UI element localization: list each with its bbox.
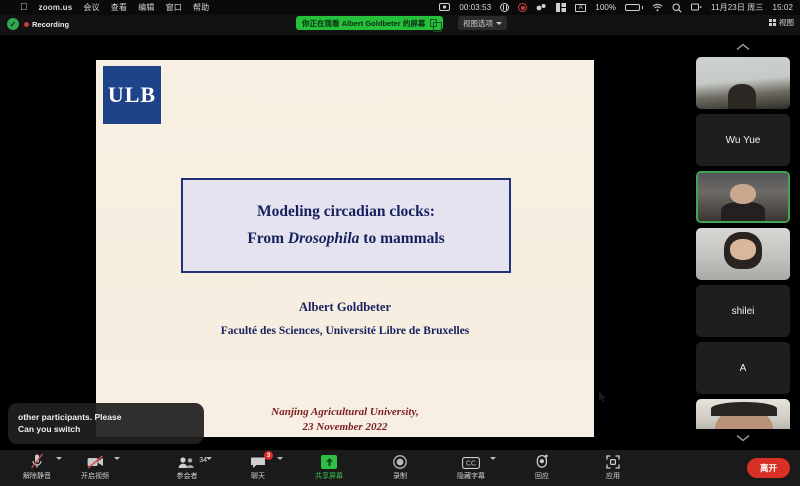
- view-layout-button[interactable]: 视图: [769, 17, 794, 28]
- leave-meeting-button[interactable]: 离开: [747, 458, 790, 478]
- menu-item-view[interactable]: 查看: [111, 2, 127, 13]
- participant-tile-active-speaker[interactable]: [696, 171, 790, 223]
- video-off-icon: [87, 453, 104, 469]
- macos-menu-bar:  zoom.us 会议 查看 编辑 窗口 帮助 00:03:53 A 100%: [0, 0, 800, 15]
- apple-logo-icon[interactable]: : [20, 3, 28, 13]
- unmute-button[interactable]: 解除静音: [16, 453, 58, 481]
- share-screen-label: 共享屏幕: [315, 471, 343, 481]
- battery-percent: 100%: [595, 3, 616, 12]
- recording-dot-icon: [24, 22, 29, 27]
- participant-tile[interactable]: Wu Yue: [696, 114, 790, 166]
- ulb-logo-text: ULB: [108, 82, 156, 108]
- shared-screen-stage[interactable]: ULB Modeling circadian clocks: From Dros…: [0, 35, 686, 450]
- title-line2-suffix: to mammals: [359, 230, 444, 247]
- record-button[interactable]: 录制: [379, 453, 421, 481]
- menu-bar-status-items: 00:03:53 A 100% 11月23日 周三 15:02: [439, 2, 800, 13]
- zoom-top-bar: ✓ Recording 你正在观看 Albert Goldbeter 的屏幕 视…: [0, 15, 800, 35]
- menu-item-window[interactable]: 窗口: [166, 2, 182, 13]
- participant-tile[interactable]: A: [696, 342, 790, 394]
- chevron-up-icon[interactable]: [206, 457, 212, 460]
- participant-name: Wu Yue: [726, 135, 761, 146]
- mouse-cursor-icon: [599, 391, 607, 403]
- scroll-down-button[interactable]: [686, 428, 800, 448]
- view-options-dropdown[interactable]: 视图选项: [458, 16, 507, 30]
- recording-label: Recording: [32, 20, 69, 29]
- apps-label: 应用: [606, 471, 620, 481]
- chevron-up-icon[interactable]: [56, 457, 62, 460]
- unmute-label: 解除静音: [23, 471, 51, 481]
- participant-tiles[interactable]: Wu Yue shilei A: [691, 57, 795, 429]
- chevron-up-icon[interactable]: [114, 457, 120, 460]
- live-caption-overlay: other participants. Please Can you switc…: [8, 403, 204, 445]
- closed-caption-label: 隐藏字幕: [457, 471, 485, 481]
- bluetooth-icon[interactable]: [536, 3, 547, 12]
- system-clock[interactable]: 15:02: [772, 3, 793, 12]
- closed-caption-icon: CC: [462, 453, 480, 469]
- view-options-label: 视图选项: [463, 18, 493, 29]
- title-line2-prefix: From: [247, 230, 288, 247]
- slide-title-box: Modeling circadian clocks: From Drosophi…: [181, 178, 511, 273]
- sharing-notice-text: 你正在观看 Albert Goldbeter 的屏幕: [302, 18, 425, 29]
- mic-muted-icon: [30, 453, 44, 469]
- recording-indicator-group: ✓ Recording: [7, 18, 69, 30]
- participant-strip: Wu Yue shilei A: [686, 35, 800, 450]
- closed-caption-button[interactable]: CC 隐藏字幕: [450, 453, 492, 481]
- chevron-up-icon[interactable]: [490, 457, 496, 460]
- participant-name: A: [740, 363, 747, 374]
- screen-sharing-notice: 你正在观看 Albert Goldbeter 的屏幕: [296, 16, 443, 30]
- slide-title-line2: From Drosophila to mammals: [247, 230, 444, 248]
- participant-video: [696, 399, 790, 429]
- pause-recording-icon[interactable]: [500, 3, 509, 12]
- participant-tile[interactable]: [696, 399, 790, 429]
- start-video-button[interactable]: 开启视频: [74, 453, 116, 481]
- menu-item-edit[interactable]: 编辑: [138, 2, 154, 13]
- copy-icon[interactable]: [430, 19, 437, 27]
- chevron-up-icon: [736, 43, 750, 51]
- battery-icon[interactable]: [625, 4, 643, 11]
- menu-bar-left:  zoom.us 会议 查看 编辑 窗口 帮助: [0, 2, 209, 13]
- reactions-button[interactable]: 回应: [521, 453, 563, 481]
- toolbar-right-group: 离开: [747, 458, 790, 478]
- chat-label: 聊天: [251, 471, 265, 481]
- participant-tile[interactable]: [696, 57, 790, 109]
- screen-share-status-icon[interactable]: [439, 3, 450, 12]
- caption-line-1: other participants. Please: [18, 411, 194, 424]
- menu-item-help[interactable]: 帮助: [193, 2, 209, 13]
- stop-recording-icon[interactable]: [518, 3, 527, 12]
- grid-view-icon: [769, 19, 776, 26]
- spotlight-search-icon[interactable]: [672, 3, 682, 13]
- apps-icon: [606, 453, 620, 469]
- chevron-up-icon[interactable]: [277, 457, 283, 460]
- meeting-timer: 00:03:53: [459, 3, 491, 12]
- slide-title-line1: Modeling circadian clocks:: [257, 203, 435, 221]
- wifi-icon[interactable]: [652, 3, 663, 12]
- slide-affiliation: Faculté des Sciences, Université Libre d…: [96, 325, 594, 337]
- record-icon: [393, 453, 407, 469]
- share-screen-icon: [321, 453, 337, 469]
- reactions-label: 回应: [535, 471, 549, 481]
- participant-video: [696, 228, 790, 280]
- participant-video: [698, 173, 788, 221]
- participant-name: shilei: [732, 306, 755, 317]
- participant-video: [696, 57, 790, 109]
- participants-button[interactable]: 34 参会者: [166, 453, 208, 481]
- menu-item-meeting[interactable]: 会议: [83, 2, 99, 13]
- participant-tile[interactable]: shilei: [696, 285, 790, 337]
- toolbar-center-group: 34 参会者 3 聊天 共享屏幕: [166, 453, 634, 481]
- chevron-down-icon: [496, 22, 502, 25]
- participants-label: 参会者: [177, 471, 198, 481]
- view-button-label: 视图: [779, 17, 794, 28]
- share-screen-button[interactable]: 共享屏幕: [308, 453, 350, 481]
- window-layout-icon[interactable]: [556, 3, 566, 12]
- ulb-logo: ULB: [103, 66, 161, 124]
- system-date[interactable]: 11月23日 周三: [711, 2, 763, 13]
- participants-icon: [178, 453, 196, 469]
- input-source-icon[interactable]: A: [575, 4, 586, 12]
- toolbar-left-group: 解除静音 开启视频: [16, 453, 116, 481]
- apps-button[interactable]: 应用: [592, 453, 634, 481]
- caption-line-2: Can you switch: [18, 423, 194, 436]
- control-center-icon[interactable]: [691, 3, 702, 12]
- scroll-up-button[interactable]: [686, 37, 800, 57]
- presentation-slide: ULB Modeling circadian clocks: From Dros…: [96, 60, 594, 437]
- meeting-toolbar: 解除静音 开启视频 34 参会者: [0, 450, 800, 486]
- svg-text:CC: CC: [466, 461, 476, 468]
- participant-tile[interactable]: [696, 228, 790, 280]
- chat-unread-badge: 3: [264, 451, 273, 460]
- encryption-shield-icon[interactable]: ✓: [7, 18, 19, 30]
- chat-button[interactable]: 3 聊天: [237, 453, 279, 481]
- menu-item-zoomus[interactable]: zoom.us: [39, 3, 73, 12]
- recording-status[interactable]: Recording: [24, 20, 69, 29]
- reactions-icon: [535, 453, 549, 469]
- slide-author: Albert Goldbeter: [96, 300, 594, 315]
- chevron-down-icon: [736, 434, 750, 442]
- start-video-label: 开启视频: [81, 471, 109, 481]
- title-line2-species: Drosophila: [288, 230, 360, 247]
- record-label: 录制: [393, 471, 407, 481]
